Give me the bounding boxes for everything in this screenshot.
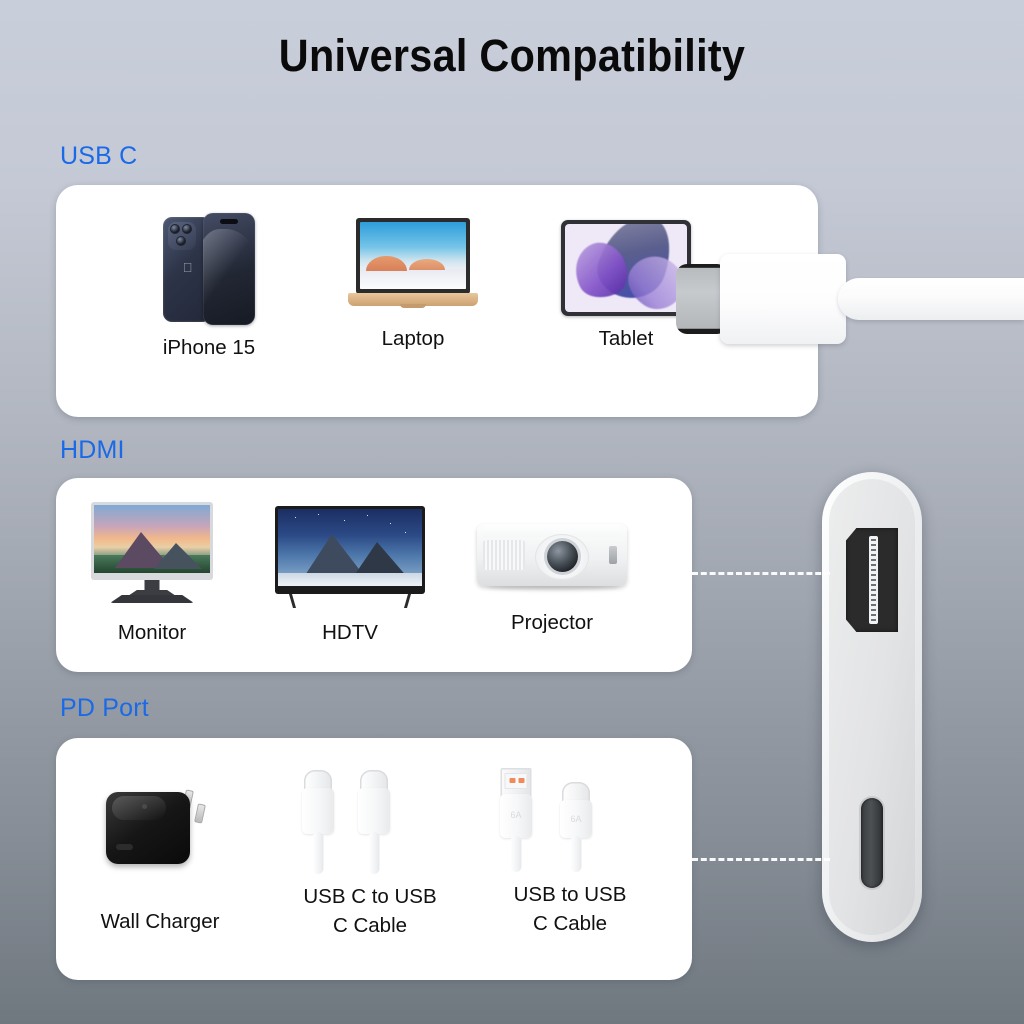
item-label: HDTV bbox=[275, 618, 425, 647]
dashed-line-pd bbox=[692, 858, 830, 861]
wall-charger-icon bbox=[106, 778, 214, 870]
item-label: Laptop bbox=[348, 324, 478, 353]
item-label: Projector bbox=[477, 608, 627, 637]
section-label-hdmi: HDMI bbox=[60, 436, 125, 465]
iphone-icon:  bbox=[163, 213, 255, 325]
monitor-icon bbox=[91, 502, 213, 610]
item-hdtv[interactable]: HDTV bbox=[275, 506, 425, 647]
item-label-wall-charger: Wall Charger bbox=[98, 907, 222, 936]
usb-c-to-usb-c-cable-icon bbox=[308, 770, 432, 874]
card-pd-port: USB C to USB C Cable Wall Charger USB C … bbox=[56, 738, 692, 980]
item-iphone-15[interactable]:  iPhone 15 bbox=[149, 213, 269, 362]
item-label: Tablet bbox=[561, 324, 691, 353]
item-label: iPhone 15 bbox=[149, 333, 269, 362]
item-monitor[interactable]: Monitor bbox=[91, 502, 213, 647]
item-label: USB to USB C Cable bbox=[496, 880, 644, 938]
tablet-icon bbox=[561, 220, 691, 316]
dashed-line-hdmi bbox=[692, 572, 830, 575]
projector-icon bbox=[477, 518, 627, 600]
card-pd-port-items: USB C to USB C Cable Wall Charger USB C … bbox=[56, 738, 692, 980]
section-label-pd-port: PD Port bbox=[60, 694, 149, 723]
pd-port[interactable] bbox=[861, 798, 883, 888]
section-label-usb-c: USB C bbox=[60, 142, 137, 171]
usb-a-to-usb-c-cable-icon: 6A 6A bbox=[508, 768, 632, 872]
item-label: Monitor bbox=[91, 618, 213, 647]
item-projector[interactable]: Projector bbox=[477, 518, 627, 637]
hdmi-port[interactable] bbox=[846, 528, 898, 632]
hdtv-icon bbox=[275, 506, 425, 610]
laptop-icon bbox=[348, 218, 478, 316]
card-hdmi: Monitor HDTV Proje bbox=[56, 478, 692, 672]
hdmi-adapter[interactable] bbox=[822, 472, 922, 942]
card-hdmi-items: Monitor HDTV Proje bbox=[56, 478, 692, 672]
usb-c-cable-wire bbox=[838, 278, 1024, 320]
page-title: Universal Compatibility bbox=[41, 30, 983, 82]
usb-c-connector-housing bbox=[720, 254, 846, 344]
item-wall-charger[interactable]: USB C to USB C Cable Wall Charger bbox=[98, 778, 222, 936]
item-usb-a-to-usb-c-cable[interactable]: 6A 6A USB to USB C Cable bbox=[496, 768, 644, 938]
usb-c-cable-plug[interactable] bbox=[676, 254, 1024, 344]
item-label: USB C to USB C Cable bbox=[296, 882, 444, 940]
item-laptop[interactable]: Laptop bbox=[348, 218, 478, 353]
item-tablet[interactable]: Tablet bbox=[561, 220, 691, 353]
item-usb-c-to-usb-c-cable[interactable]: USB C to USB C Cable bbox=[296, 770, 444, 940]
